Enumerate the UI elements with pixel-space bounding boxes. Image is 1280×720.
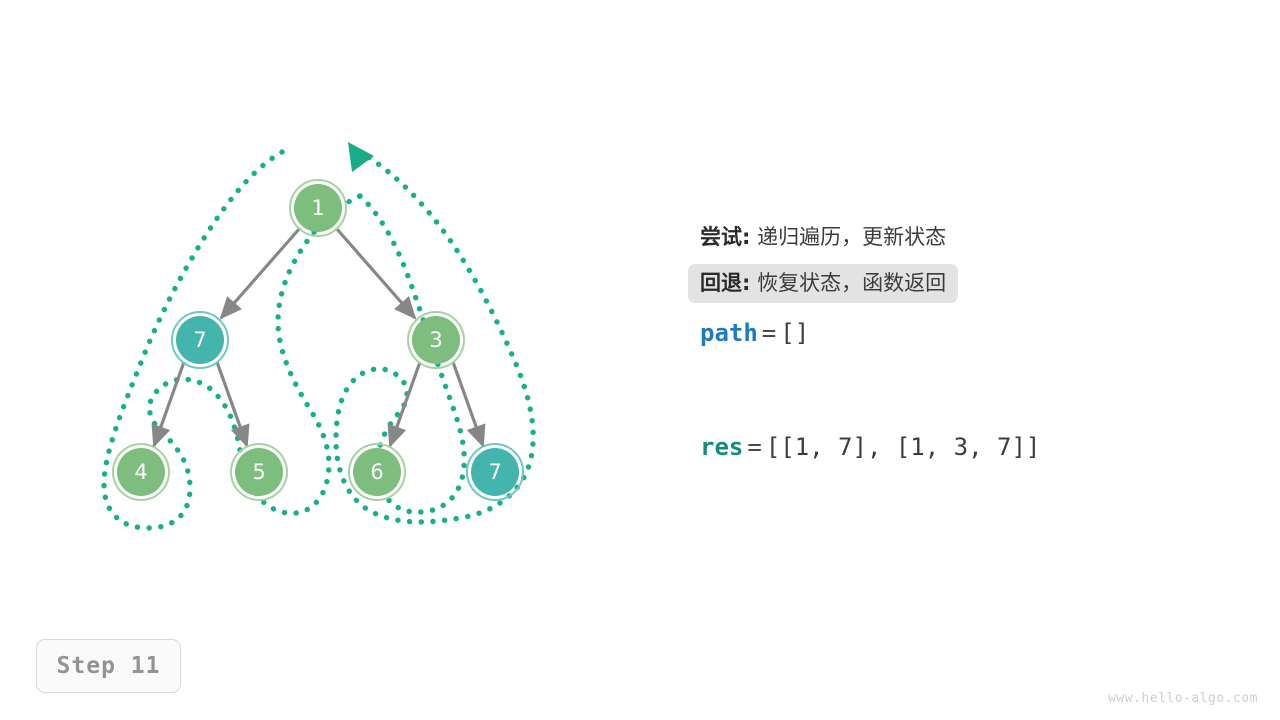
- tree-node-label: 7: [193, 328, 206, 352]
- tree-node-label: 3: [429, 328, 442, 352]
- variable-name-res: res: [700, 433, 743, 461]
- tree-node[interactable]: 5: [231, 444, 287, 500]
- tree-node-label: 6: [370, 460, 383, 484]
- phase-key-attempt: 尝试:: [700, 225, 750, 249]
- phase-desc-attempt: 递归遍历，更新状态: [757, 225, 946, 249]
- diagram-canvas: 1 7 3 4 5 6 7: [0, 0, 1280, 720]
- step-badge: Step 11: [36, 639, 181, 693]
- variable-value-res: [[1, 7], [1, 3, 7]]: [766, 433, 1041, 461]
- variable-value-path: []: [780, 319, 809, 347]
- tree-node[interactable]: 3: [408, 312, 464, 368]
- tree-node[interactable]: 1: [290, 180, 346, 236]
- variable-name-path: path: [700, 319, 758, 347]
- phase-row-attempt: 尝试: 递归遍历，更新状态: [700, 218, 1240, 257]
- state-info-panel: 尝试: 递归遍历，更新状态 回退: 恢复状态，函数返回 path=[] res=…: [700, 218, 1240, 461]
- phase-key-backtrack: 回退:: [700, 271, 750, 295]
- tree-node-label: 7: [488, 460, 501, 484]
- binary-tree-diagram: 1 7 3 4 5 6 7: [60, 110, 600, 550]
- watermark: www.hello-algo.com: [1108, 691, 1258, 706]
- variable-equals-path: =: [758, 319, 780, 347]
- tree-node-label: 1: [311, 196, 324, 220]
- tree-node[interactable]: 4: [113, 444, 169, 500]
- tree-node-label: 4: [134, 460, 147, 484]
- phase-desc-backtrack: 恢复状态，函数返回: [757, 271, 946, 295]
- variable-row-path: path=[]: [700, 319, 1240, 347]
- current-position-arrow-icon: [348, 142, 374, 172]
- tree-node[interactable]: 6: [349, 444, 405, 500]
- step-label: Step 11: [57, 653, 161, 679]
- phase-line-attempt: 尝试: 递归遍历，更新状态: [688, 218, 958, 257]
- phase-line-backtrack: 回退: 恢复状态，函数返回: [688, 264, 958, 303]
- tree-node-label: 5: [252, 460, 265, 484]
- phase-row-backtrack: 回退: 恢复状态，函数返回: [700, 264, 1240, 303]
- variable-row-res: res=[[1, 7], [1, 3, 7]]: [700, 433, 1240, 461]
- tree-node[interactable]: 7: [467, 444, 523, 500]
- tree-node[interactable]: 7: [172, 312, 228, 368]
- variable-equals-res: =: [743, 433, 765, 461]
